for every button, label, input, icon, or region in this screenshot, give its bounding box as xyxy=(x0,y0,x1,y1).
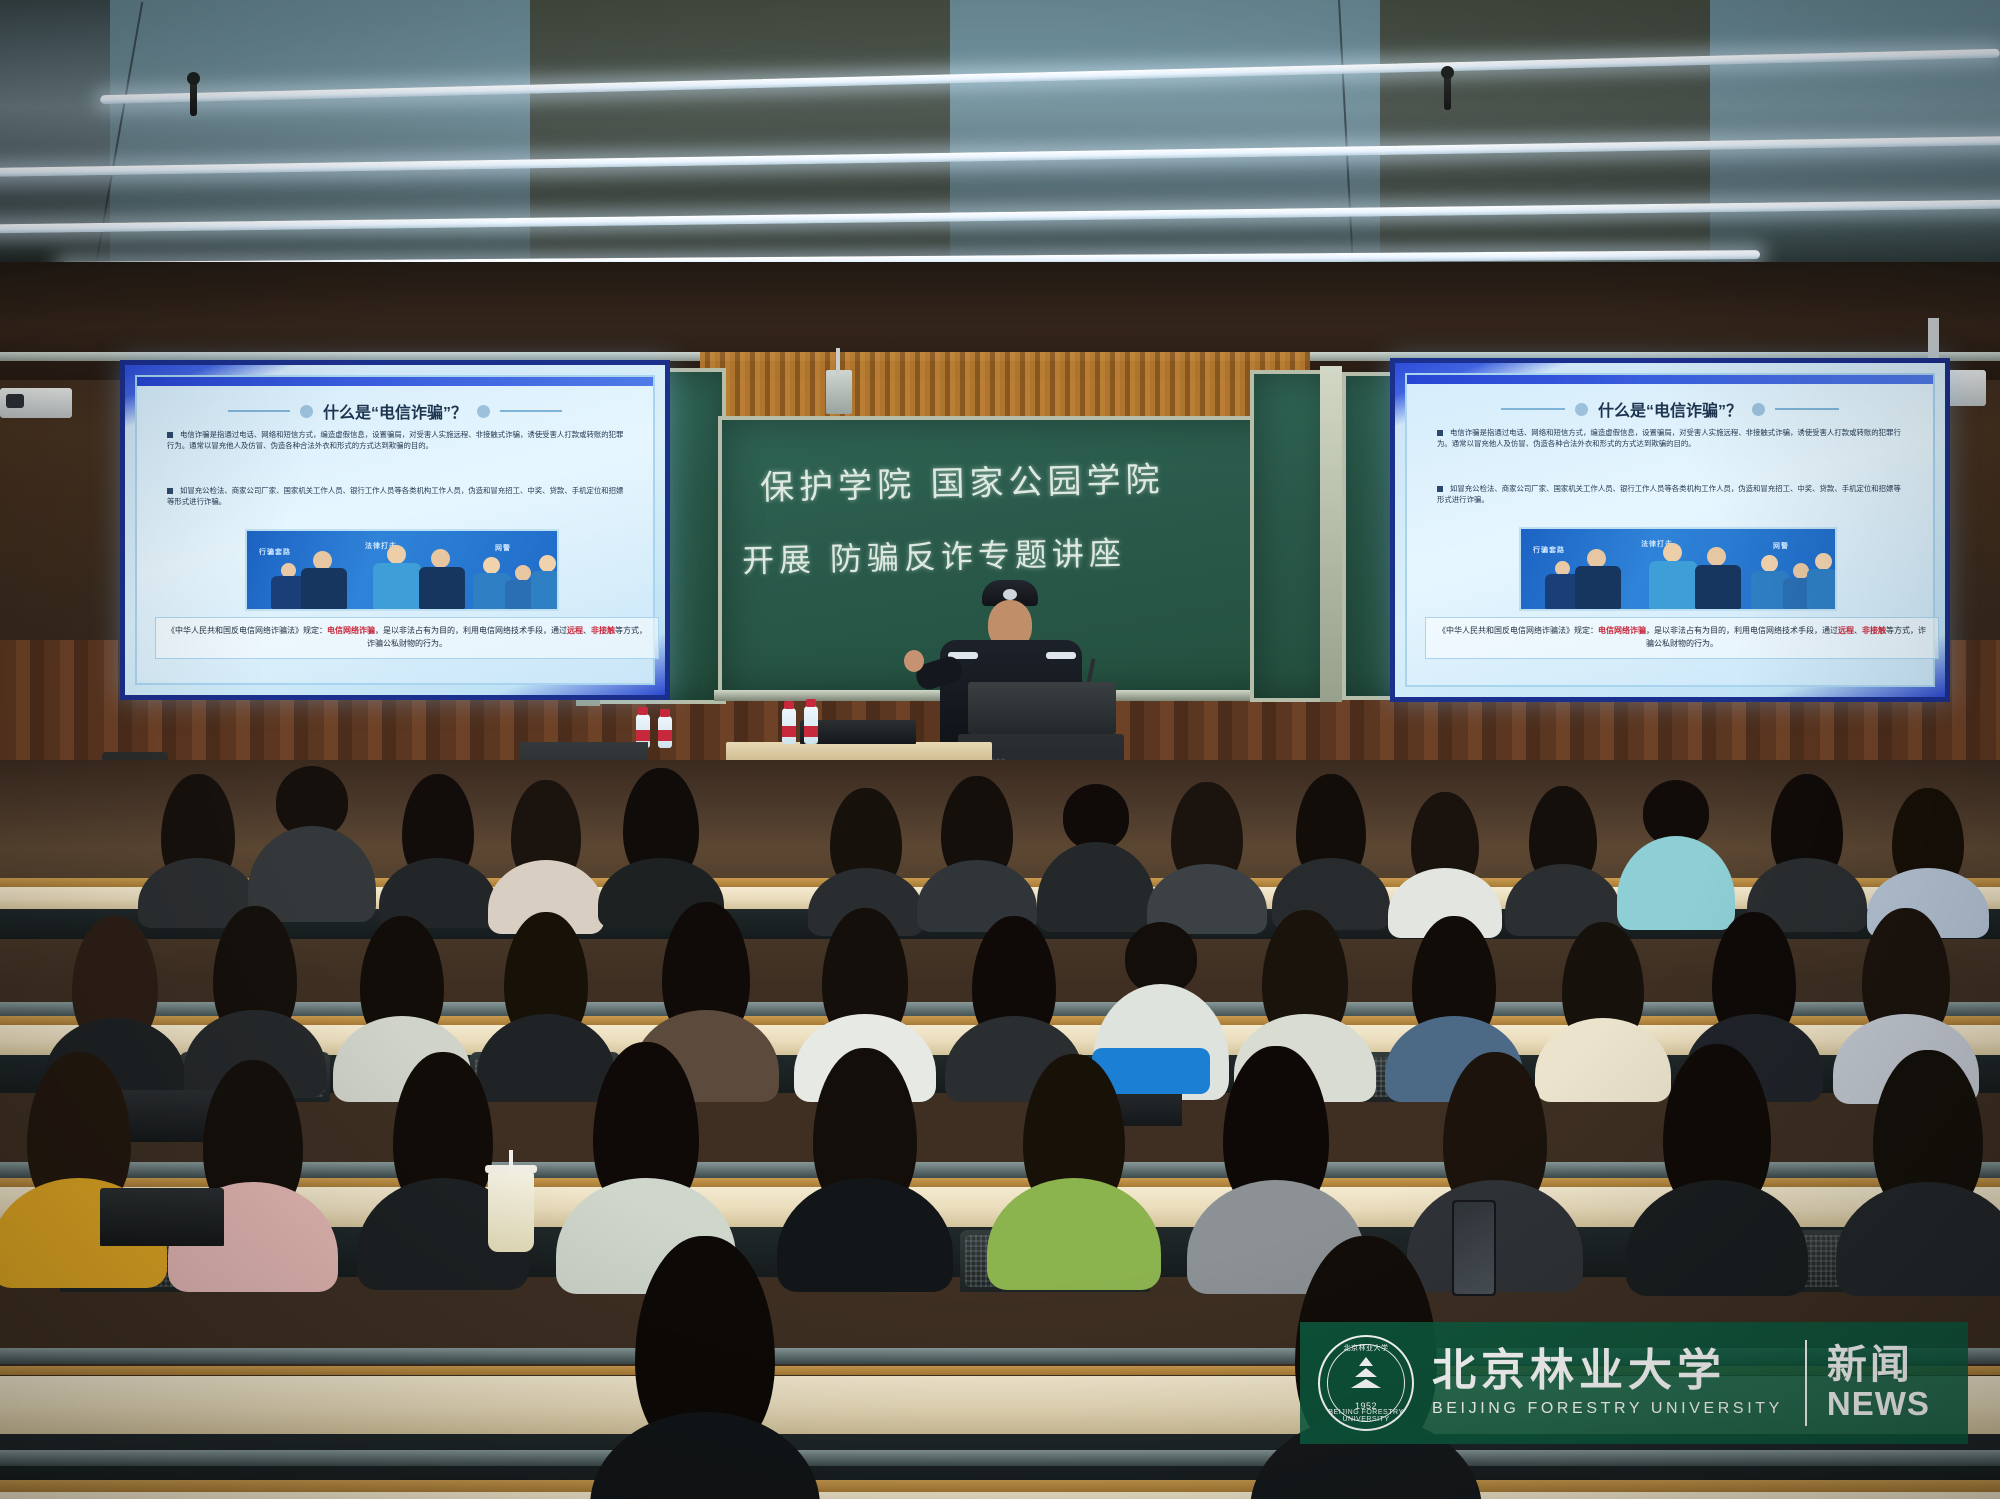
bottle-label xyxy=(636,730,650,741)
bullet-marker xyxy=(167,488,173,494)
water-bottle[interactable] xyxy=(804,706,818,744)
slide-left: 什么是“电信诈骗”？ 电信诈骗是指通过电话、网络和短信方式，编造虚假信息，设置骗… xyxy=(135,375,655,685)
audience-member xyxy=(620,1230,790,1499)
bottle-label xyxy=(782,726,796,737)
hanging-cable xyxy=(836,348,840,374)
slide-law-note: 《中华人民共和国反电信网络诈骗法》规定：电信网络诈骗，是以非法占有为目的，利用电… xyxy=(1425,617,1939,659)
figure-head xyxy=(515,565,531,581)
audience-member xyxy=(1010,1048,1138,1278)
watermark-name-en: BEIJING FORESTRY UNIVERSITY xyxy=(1432,1400,1783,1418)
slide-bullet-2: 如冒充公检法、商家公司厂家、国家机关工作人员、银行工作人员等各类机构工作人员，伪… xyxy=(167,485,627,508)
water-bottle[interactable] xyxy=(782,708,796,744)
audience-member xyxy=(262,760,362,920)
audience-member xyxy=(500,774,592,920)
news-watermark: 北京林业大学 1952 BEIJING FORESTRY UNIVERSITY … xyxy=(1300,1322,1968,1444)
audience-member xyxy=(1760,770,1854,924)
torso xyxy=(777,1178,953,1292)
figure-body xyxy=(419,567,465,609)
ceiling-projector xyxy=(0,388,72,418)
cup-straw xyxy=(509,1150,513,1172)
law-mid-1: ，是以非法占有为目的，利用电信网络技术手段，通过 xyxy=(1646,626,1838,635)
university-seal-icon: 北京林业大学 1952 BEIJING FORESTRY UNIVERSITY xyxy=(1318,1335,1414,1431)
title-rule-right xyxy=(1775,408,1839,410)
law-highlight-2: 远程 xyxy=(567,626,583,635)
figure-head xyxy=(1815,553,1832,570)
epaulet-right xyxy=(1046,652,1076,659)
sprinkler-head xyxy=(190,78,197,116)
projection-screen-left: 什么是“电信诈骗”？ 电信诈骗是指通过电话、网络和短信方式，编造虚假信息，设置骗… xyxy=(120,360,670,700)
smartphone[interactable] xyxy=(1452,1200,1496,1296)
figure-body xyxy=(1807,569,1837,609)
title-rule-right xyxy=(500,410,562,412)
torso xyxy=(1626,1180,1808,1296)
slide-bullet-2-text: 如冒充公检法、商家公司厂家、国家机关工作人员、银行工作人员等各类机构工作人员，伪… xyxy=(1437,484,1901,504)
figure-head xyxy=(539,555,556,572)
front-desk xyxy=(726,742,992,762)
slide-law-note: 《中华人民共和国反电信网络诈骗法》规定：电信网络诈骗，是以非法占有为目的，利用电… xyxy=(155,617,659,659)
torso xyxy=(1836,1182,2000,1296)
watermark-university-name: 北京林业大学 BEIJING FORESTRY UNIVERSITY xyxy=(1432,1348,1783,1417)
watermark-divider xyxy=(1805,1340,1807,1426)
law-highlight-2: 远程 xyxy=(1838,626,1854,635)
figure-body xyxy=(531,571,559,609)
watermark-news-cn: 新闻 xyxy=(1827,1344,1930,1386)
podium-monitor xyxy=(968,682,1116,734)
law-mid-1: ，是以非法占有为目的，利用电信网络技术手段，通过 xyxy=(375,626,567,635)
desk-surface xyxy=(0,1492,2000,1499)
audience-member xyxy=(1518,782,1608,926)
ceiling xyxy=(0,0,2000,268)
slide-title: 什么是“电信诈骗”？ xyxy=(1598,397,1742,421)
phone-screen xyxy=(1454,1202,1494,1294)
law-highlight-3: 非接触 xyxy=(591,626,615,635)
illustration-label-0: 行骗套路 xyxy=(259,547,291,557)
slide-bullet-1: 电信诈骗是指通过电话、网络和短信方式，编造虚假信息，设置骗局，对受害人实施远程、… xyxy=(167,429,627,452)
title-dot-left xyxy=(300,405,313,418)
figure-body xyxy=(373,563,421,609)
slide-accent-bar xyxy=(1407,375,1933,384)
audience-member xyxy=(1285,770,1377,920)
figure-head xyxy=(1761,555,1778,572)
bullet-marker xyxy=(167,432,173,438)
law-prefix: 《中华人民共和国反电信网络诈骗法》规定： xyxy=(1438,626,1598,635)
wall-control-box[interactable] xyxy=(826,370,852,414)
water-bottle[interactable] xyxy=(658,716,672,748)
audience-member xyxy=(150,766,246,916)
audience-member xyxy=(1860,1044,1996,1282)
law-prefix: 《中华人民共和国反电信网络诈骗法》规定： xyxy=(167,626,327,635)
student-laptop[interactable] xyxy=(100,1188,224,1246)
bottle-label xyxy=(658,730,672,741)
title-dot-right xyxy=(477,405,490,418)
bottle-cap xyxy=(784,701,794,709)
law-mid-2: 、 xyxy=(1854,626,1862,635)
audience-member xyxy=(1650,1038,1784,1280)
slide-bullet-1-text: 电信诈骗是指通过电话、网络和短信方式，编造虚假信息，设置骗局，对受害人实施远程、… xyxy=(167,430,623,450)
torso xyxy=(590,1412,820,1499)
bullet-marker xyxy=(1437,486,1443,492)
watermark-news-block: 新闻 NEWS xyxy=(1827,1344,1930,1422)
slide-accent-bar xyxy=(137,377,653,386)
law-highlight-1: 电信网络诈骗 xyxy=(1598,626,1646,635)
illustration-label-2: 网警 xyxy=(495,543,511,553)
blackboard-line-2: 开展 防骗反诈专题讲座 xyxy=(742,528,1127,582)
seal-arc-text: BEIJING FORESTRY UNIVERSITY xyxy=(1320,1409,1412,1423)
slide-right: 什么是“电信诈骗”？ 电信诈骗是指通过电话、网络和短信方式，编造虚假信息，设置骗… xyxy=(1405,373,1935,687)
slide-illustration: 行骗套路 法律打击 网警 xyxy=(245,529,559,611)
law-highlight-3: 非接触 xyxy=(1862,626,1886,635)
slide-bullet-2-text: 如冒充公检法、商家公司厂家、国家机关工作人员、银行工作人员等各类机构工作人员，伪… xyxy=(167,486,623,506)
figure-head xyxy=(1663,543,1682,562)
figure-head xyxy=(387,545,406,564)
projector-lens xyxy=(6,394,24,408)
slide-title: 什么是“电信诈骗”？ xyxy=(323,399,467,423)
bottle-cap xyxy=(638,707,648,715)
seal-top-text: 北京林业大学 xyxy=(1320,1343,1412,1353)
watermark-name-cn: 北京林业大学 xyxy=(1432,1348,1783,1394)
presenter-hand xyxy=(904,650,924,672)
law-mid-2: 、 xyxy=(583,626,591,635)
slide-illustration: 行骗套路 法律打击 网警 xyxy=(1519,527,1837,611)
title-rule-left xyxy=(228,410,290,412)
bottle-cap xyxy=(660,709,670,717)
figure-head xyxy=(431,549,450,568)
slide-bullet-2: 如冒充公检法、商家公司厂家、国家机关工作人员、银行工作人员等各类机构工作人员，伪… xyxy=(1437,483,1905,506)
sprinkler-head xyxy=(1444,72,1451,110)
slide-title-row: 什么是“电信诈骗”？ xyxy=(1407,397,1933,421)
figure-head xyxy=(483,557,500,574)
audience-member xyxy=(390,768,486,918)
bottle-label xyxy=(804,726,818,737)
slide-bullet-1: 电信诈骗是指通过电话、网络和短信方式，编造虚假信息，设置骗局，对受害人实施远程、… xyxy=(1437,427,1905,450)
beverage-cup[interactable] xyxy=(488,1172,534,1252)
lecture-hall-photo: 保护学院 国家公园学院 开展 防骗反诈专题讲座 什么是“电信诈骗”？ 电信诈骗是… xyxy=(0,0,2000,1499)
title-rule-left xyxy=(1501,408,1565,410)
slide-bullet-1-text: 电信诈骗是指通过电话、网络和短信方式，编造虚假信息，设置骗局，对受害人实施远程、… xyxy=(1437,428,1901,448)
audience-member xyxy=(930,772,1024,924)
illustration-label-0: 行骗套路 xyxy=(1533,545,1565,555)
pagoda-tree-icon xyxy=(1351,1357,1381,1390)
torso xyxy=(987,1178,1161,1290)
audience-member xyxy=(1400,788,1490,926)
desk-rail xyxy=(0,1450,2000,1466)
watermark-news-en: NEWS xyxy=(1827,1386,1930,1422)
bottle-cap xyxy=(806,699,816,707)
title-dot-left xyxy=(1575,403,1588,416)
audience-member xyxy=(1160,778,1254,926)
desk-edge xyxy=(0,1480,2000,1492)
projection-screen-right: 什么是“电信诈骗”？ 电信诈骗是指通过电话、网络和短信方式，编造虚假信息，设置骗… xyxy=(1390,358,1950,702)
hair xyxy=(1063,784,1129,850)
law-highlight-1: 电信网络诈骗 xyxy=(327,626,375,635)
blackboard-line-1: 保护学院 国家公园学院 xyxy=(760,452,1165,509)
title-dot-right xyxy=(1752,403,1765,416)
figure-body xyxy=(1695,565,1741,609)
blackboard-frame xyxy=(1320,366,1342,702)
illustration-label-2: 网警 xyxy=(1773,541,1789,551)
audience-member xyxy=(800,1042,930,1278)
figure-body xyxy=(301,568,347,609)
audience-member xyxy=(1550,916,1656,1092)
figure-body xyxy=(1575,566,1621,609)
bullet-marker xyxy=(1437,430,1443,436)
figure-head xyxy=(1707,547,1726,566)
audience-member xyxy=(1050,780,1142,926)
slide-title-row: 什么是“电信诈骗”？ xyxy=(137,399,653,423)
figure-body xyxy=(1649,561,1697,609)
audience-member xyxy=(1630,776,1722,926)
